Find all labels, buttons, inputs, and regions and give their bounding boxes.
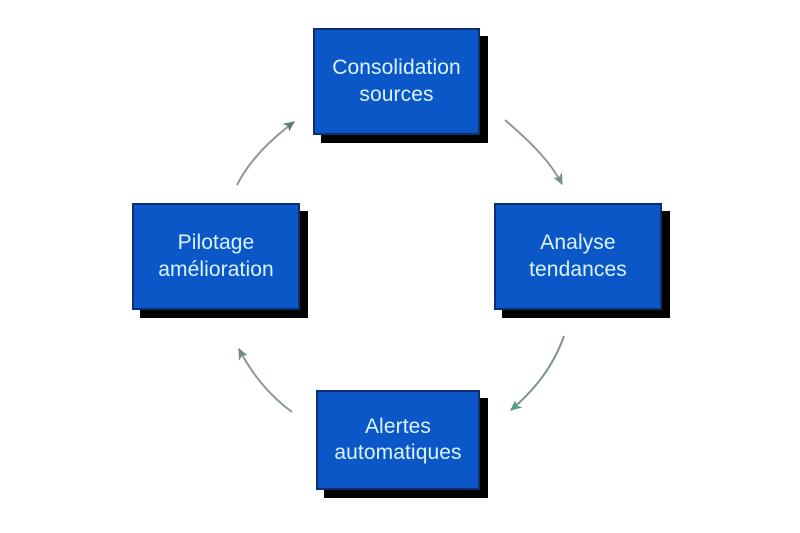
node-pilotage-amelioration[interactable]: Pilotage amélioration: [132, 203, 300, 310]
node-label: Alertes automatiques: [326, 414, 469, 467]
node-analyse-tendances[interactable]: Analyse tendances: [494, 203, 662, 310]
arrow-pilotage-to-consolidation: [237, 122, 294, 185]
diagram-canvas: Consolidation sources Analyse tendances …: [0, 0, 800, 533]
node-consolidation-sources[interactable]: Consolidation sources: [313, 28, 480, 135]
arrow-consolidation-to-analyse: [505, 120, 562, 184]
node-alertes-automatiques[interactable]: Alertes automatiques: [316, 390, 480, 490]
node-label: Consolidation sources: [324, 55, 469, 108]
arrow-alertes-to-pilotage: [239, 349, 292, 412]
node-label: Pilotage amélioration: [150, 230, 282, 283]
node-label: Analyse tendances: [521, 230, 635, 283]
arrow-analyse-to-alertes: [511, 336, 564, 410]
